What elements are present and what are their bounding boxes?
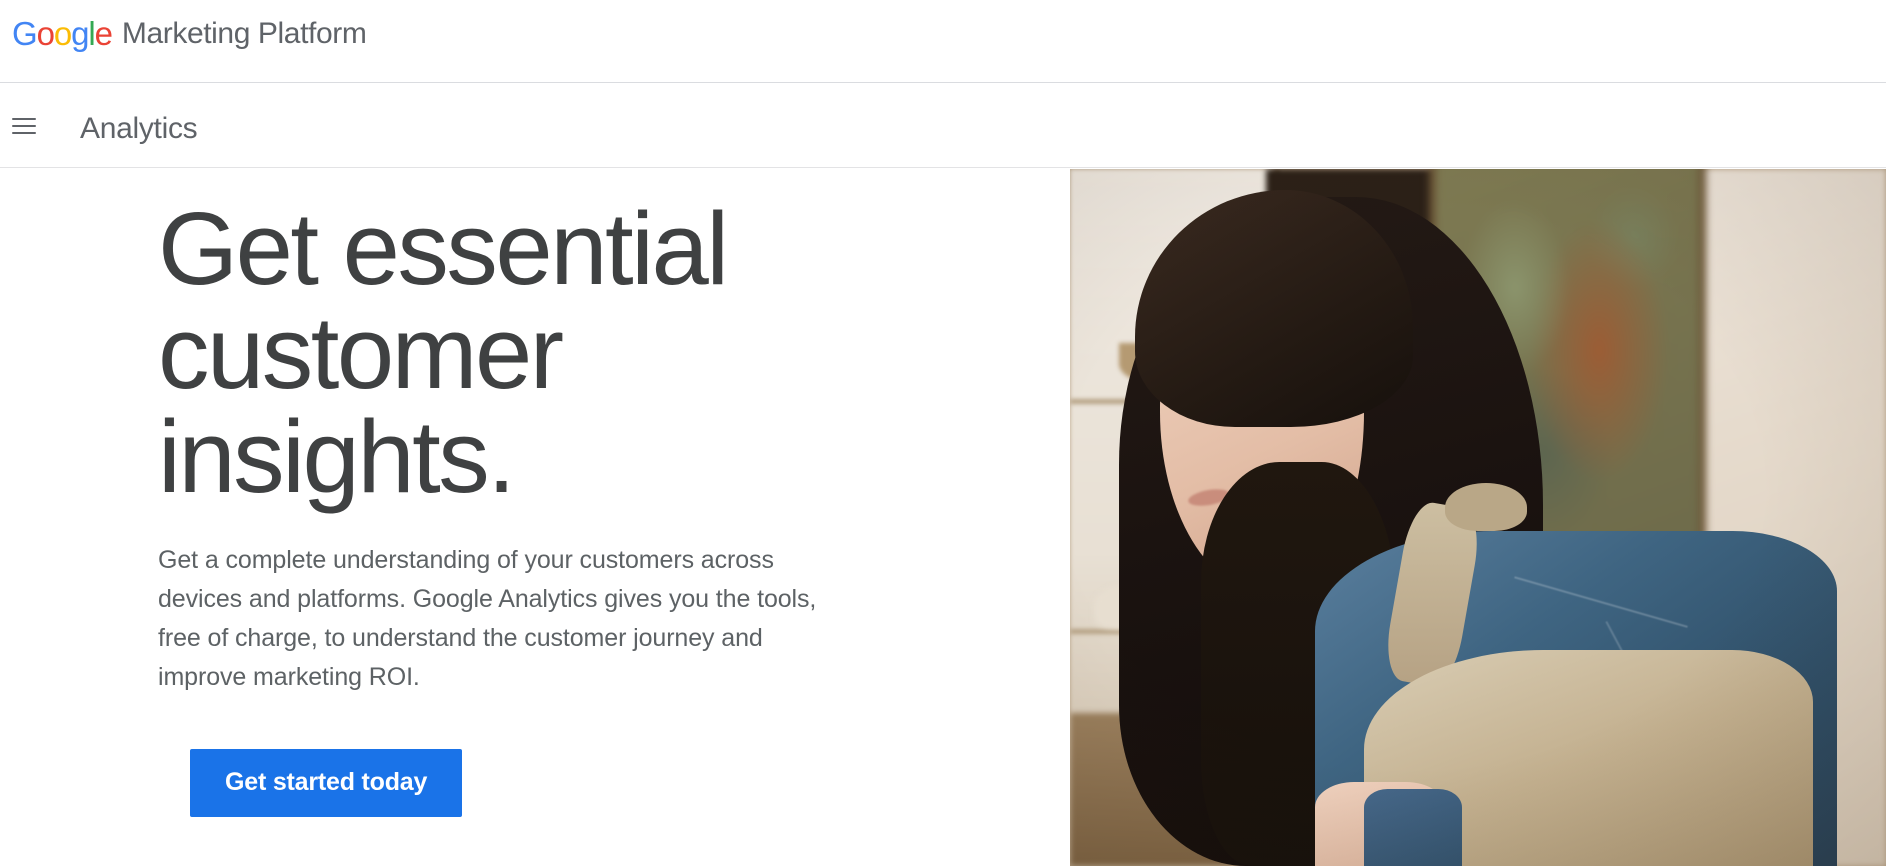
google-logo-letter-o1: o (37, 15, 54, 52)
hamburger-bar-2 (12, 125, 36, 127)
product-title[interactable]: Analytics (80, 110, 197, 148)
google-logo-letter-g1: G (12, 15, 37, 52)
brand-bar: Google Marketing Platform (0, 0, 1886, 83)
google-logo-letter-g2: g (71, 15, 88, 52)
hero-description: Get a complete understanding of your cus… (158, 541, 848, 697)
product-nav-bar: Analytics (0, 84, 1886, 168)
brand-suffix-label: Marketing Platform (122, 17, 367, 50)
google-logo: Google (12, 17, 112, 50)
hero-section: Get essential customer insights. Get a c… (0, 169, 1886, 866)
hamburger-bar-3 (12, 132, 36, 134)
google-logo-letter-e: e (95, 15, 112, 52)
hero-copy-block: Get essential customer insights. Get a c… (158, 197, 858, 817)
hero-image (1070, 169, 1886, 866)
page-title: Get essential customer insights. (158, 197, 858, 509)
hamburger-menu-icon[interactable] (12, 114, 36, 138)
get-started-button[interactable]: Get started today (190, 749, 462, 817)
photo-vignette (1070, 169, 1886, 866)
hamburger-bar-1 (12, 118, 36, 120)
google-logo-letter-o2: o (54, 15, 71, 52)
brand-logo-lockup[interactable]: Google Marketing Platform (12, 17, 366, 50)
